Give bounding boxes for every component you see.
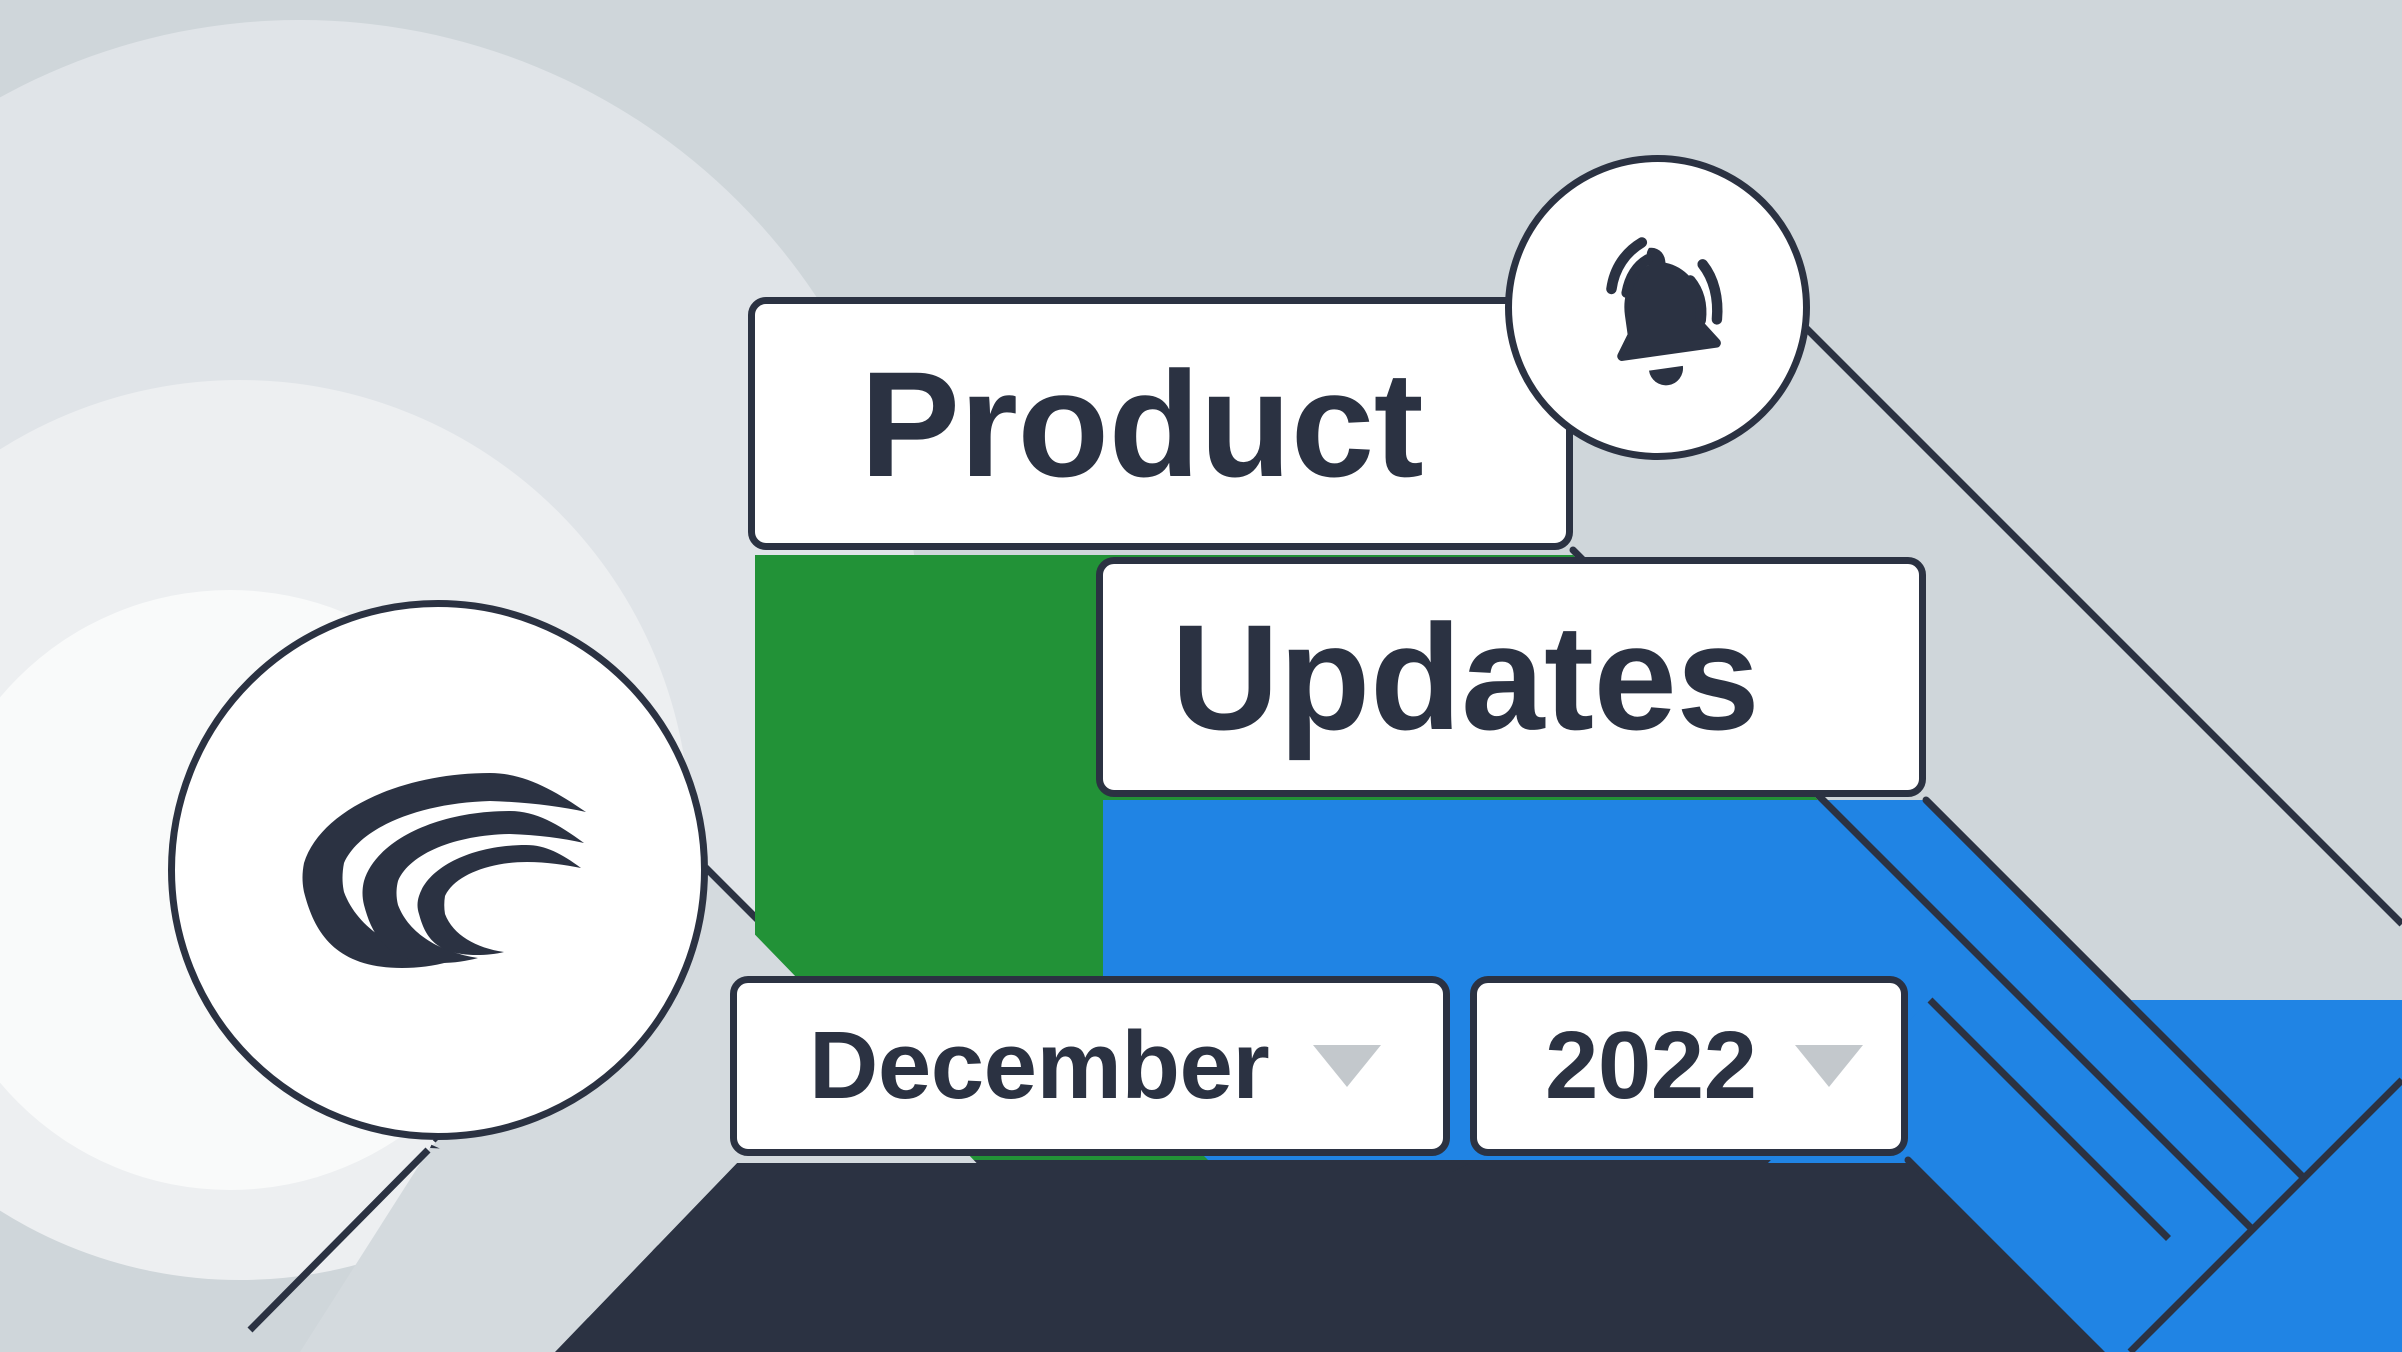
month-dropdown[interactable]: December (730, 976, 1450, 1156)
product-updates-banner: Product Updates December 2022 (0, 0, 2402, 1352)
title-line-2: Updates (1171, 602, 1759, 752)
notification-badge[interactable] (1505, 155, 1810, 460)
wave-swoosh-logo-icon (258, 735, 618, 1005)
title-line-1: Product (860, 349, 1423, 499)
chevron-down-icon[interactable] (1313, 1045, 1381, 1087)
month-dropdown-value: December (809, 1018, 1269, 1114)
year-dropdown[interactable]: 2022 (1470, 976, 1908, 1156)
bell-ringing-icon (1563, 213, 1753, 403)
brand-logo-badge (168, 600, 708, 1140)
title-card-product: Product (748, 297, 1573, 550)
title-card-updates: Updates (1096, 557, 1926, 797)
chevron-down-icon[interactable] (1795, 1045, 1863, 1087)
year-dropdown-value: 2022 (1545, 1018, 1757, 1114)
